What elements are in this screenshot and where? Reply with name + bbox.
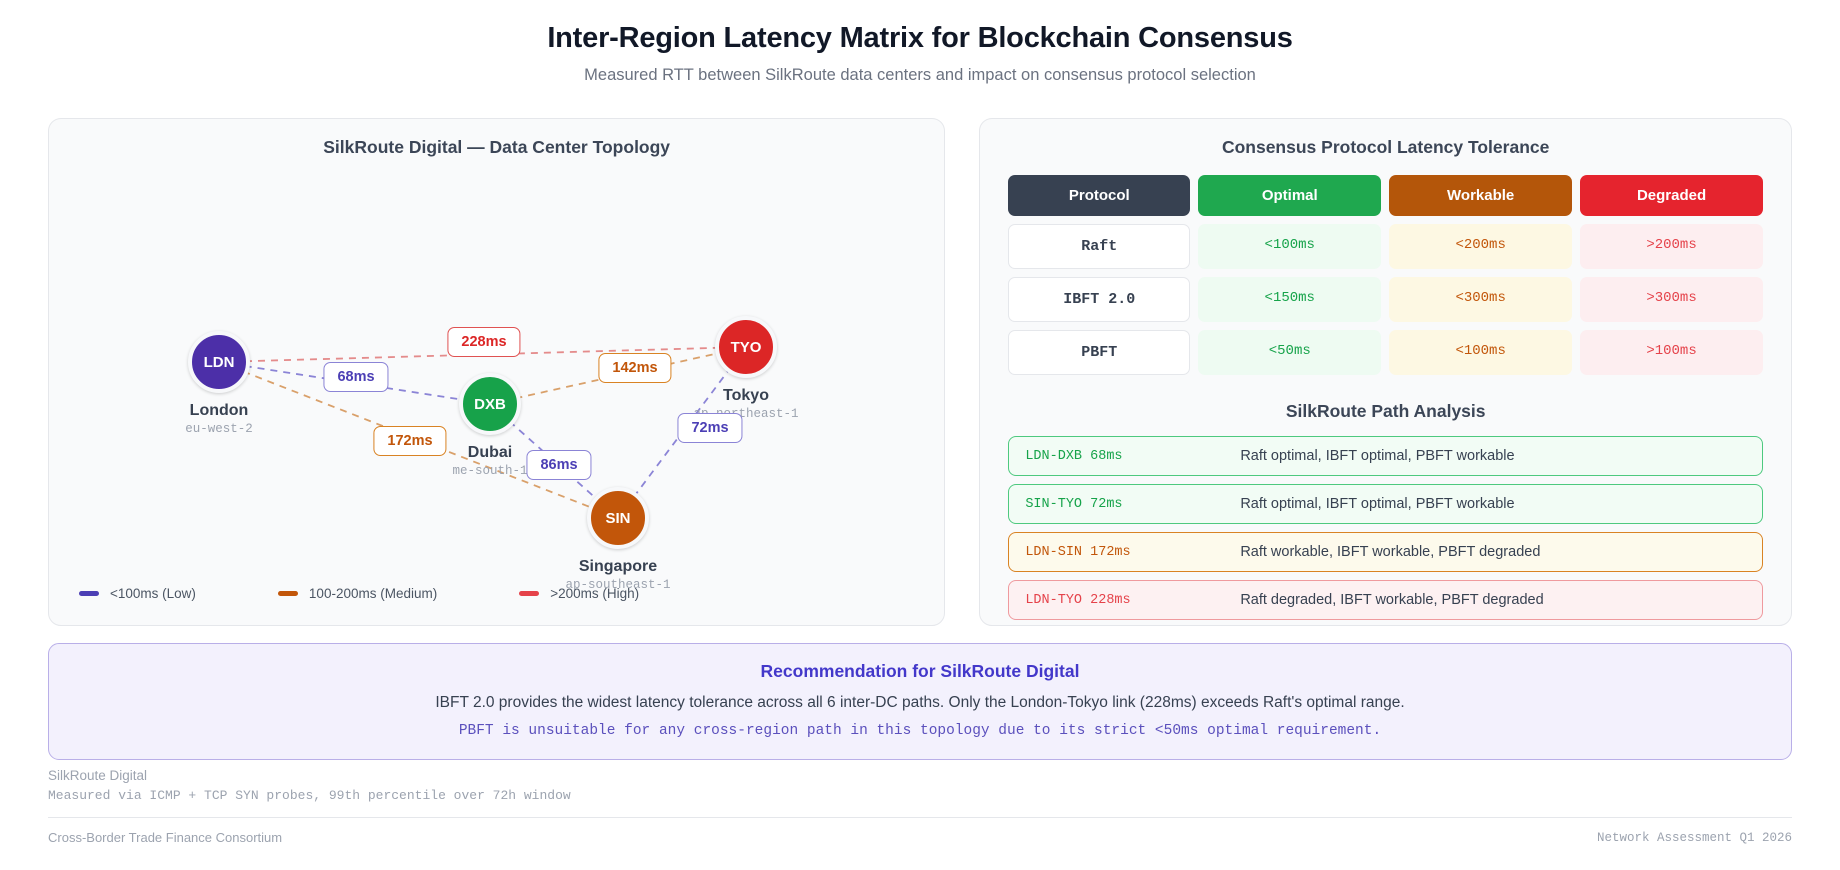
node-city-label: London xyxy=(159,402,279,420)
path-verdict: Raft degraded, IBFT workable, PBFT degra… xyxy=(1240,592,1543,608)
edge-label-ldn-dxb[interactable]: 68ms xyxy=(323,362,388,392)
table-header-protocol: Protocol xyxy=(1008,175,1190,216)
table-cell-opt: <50ms xyxy=(1198,330,1381,375)
latency-legend: <100ms (Low)100-200ms (Medium)>200ms (Hi… xyxy=(79,586,639,601)
table-cell-deg: >200ms xyxy=(1580,224,1763,269)
table-cell-opt: <150ms xyxy=(1198,277,1381,322)
recommendation-box: Recommendation for SilkRoute Digital IBF… xyxy=(48,643,1792,760)
legend-swatch-icon xyxy=(278,591,298,596)
path-name: LDN-SIN 172ms xyxy=(1025,545,1240,560)
main-columns: SilkRoute Digital — Data Center Topology… xyxy=(48,118,1792,626)
table-header-optimal: Optimal xyxy=(1198,175,1381,216)
legend-label: <100ms (Low) xyxy=(110,586,196,601)
legend-item: <100ms (Low) xyxy=(79,586,196,601)
protocol-table: ProtocolOptimalWorkableDegradedRaft<100m… xyxy=(1008,175,1763,375)
topology-canvas: LDNLondoneu-west-2DXBDubaime-south-1TYOT… xyxy=(49,119,944,625)
node-ldn[interactable]: LDNLondoneu-west-2 xyxy=(159,331,279,436)
legend-swatch-icon xyxy=(519,591,539,596)
table-header-degraded: Degraded xyxy=(1580,175,1763,216)
page-root: Inter-Region Latency Matrix for Blockcha… xyxy=(0,0,1840,870)
legend-label: >200ms (High) xyxy=(550,586,639,601)
legend-swatch-icon xyxy=(79,591,99,596)
table-header-workable: Workable xyxy=(1389,175,1572,216)
legend-label: 100-200ms (Medium) xyxy=(309,586,437,601)
recommendation-line-1: IBFT 2.0 provides the widest latency tol… xyxy=(69,694,1771,712)
edge-label-ldn-tyo[interactable]: 228ms xyxy=(447,327,520,357)
page-title: Inter-Region Latency Matrix for Blockcha… xyxy=(0,22,1840,55)
table-cell-opt: <100ms xyxy=(1198,224,1381,269)
footer-method: Measured via ICMP + TCP SYN probes, 99th… xyxy=(48,788,1792,803)
node-region-label: eu-west-2 xyxy=(159,422,279,436)
node-city-label: Tokyo xyxy=(686,387,806,405)
path-name: SIN-TYO 72ms xyxy=(1025,497,1240,512)
path-row[interactable]: LDN-DXB 68msRaft optimal, IBFT optimal, … xyxy=(1008,436,1763,476)
path-row[interactable]: SIN-TYO 72msRaft optimal, IBFT optimal, … xyxy=(1008,484,1763,524)
path-name: LDN-TYO 228ms xyxy=(1025,593,1240,608)
table-cell-wrk: <200ms xyxy=(1389,224,1572,269)
node-badge-dxb: DXB xyxy=(459,373,521,435)
protocol-card: Consensus Protocol Latency Tolerance Pro… xyxy=(979,118,1792,626)
table-cell-deg: >100ms xyxy=(1580,330,1763,375)
page-subtitle: Measured RTT between SilkRoute data cent… xyxy=(0,66,1840,85)
node-sin[interactable]: SINSingaporeap-southeast-1 xyxy=(558,487,678,592)
table-cell-deg: >300ms xyxy=(1580,277,1763,322)
footer-right: Network Assessment Q1 2026 xyxy=(1597,831,1792,845)
table-cell-wrk: <300ms xyxy=(1389,277,1572,322)
footer-rule: Cross-Border Trade Finance Consortium Ne… xyxy=(48,817,1792,845)
path-analysis-title: SilkRoute Path Analysis xyxy=(1008,401,1763,422)
edge-label-dxb-tyo[interactable]: 142ms xyxy=(598,353,671,383)
legend-item: 100-200ms (Medium) xyxy=(278,586,437,601)
page-footer: SilkRoute Digital Measured via ICMP + TC… xyxy=(48,768,1792,845)
page-header: Inter-Region Latency Matrix for Blockcha… xyxy=(0,0,1840,85)
recommendation-line-2: PBFT is unsuitable for any cross-region … xyxy=(69,723,1771,739)
edge-label-ldn-sin[interactable]: 172ms xyxy=(373,426,446,456)
path-row[interactable]: LDN-SIN 172msRaft workable, IBFT workabl… xyxy=(1008,532,1763,572)
node-badge-sin: SIN xyxy=(587,487,649,549)
path-verdict: Raft optimal, IBFT optimal, PBFT workabl… xyxy=(1240,448,1514,464)
table-cell-wrk: <100ms xyxy=(1389,330,1572,375)
path-verdict: Raft workable, IBFT workable, PBFT degra… xyxy=(1240,544,1540,560)
path-verdict: Raft optimal, IBFT optimal, PBFT workabl… xyxy=(1240,496,1514,512)
recommendation-title: Recommendation for SilkRoute Digital xyxy=(69,661,1771,682)
protocol-table-title: Consensus Protocol Latency Tolerance xyxy=(1008,119,1763,158)
table-cell-protocol: IBFT 2.0 xyxy=(1008,277,1190,322)
edge-label-sin-tyo[interactable]: 72ms xyxy=(677,413,742,443)
node-tyo[interactable]: TYOTokyoap-northeast-1 xyxy=(686,316,806,421)
footer-org: SilkRoute Digital xyxy=(48,768,1792,783)
topology-card: SilkRoute Digital — Data Center Topology… xyxy=(48,118,945,626)
path-name: LDN-DXB 68ms xyxy=(1025,449,1240,464)
footer-left: Cross-Border Trade Finance Consortium xyxy=(48,830,282,845)
node-badge-tyo: TYO xyxy=(715,316,777,378)
table-cell-protocol: Raft xyxy=(1008,224,1190,269)
table-cell-protocol: PBFT xyxy=(1008,330,1190,375)
node-city-label: Singapore xyxy=(558,558,678,576)
path-analysis-list: LDN-DXB 68msRaft optimal, IBFT optimal, … xyxy=(1008,436,1763,620)
path-row[interactable]: LDN-TYO 228msRaft degraded, IBFT workabl… xyxy=(1008,580,1763,620)
edge-label-dxb-sin[interactable]: 86ms xyxy=(526,450,591,480)
node-badge-ldn: LDN xyxy=(188,331,250,393)
legend-item: >200ms (High) xyxy=(519,586,639,601)
